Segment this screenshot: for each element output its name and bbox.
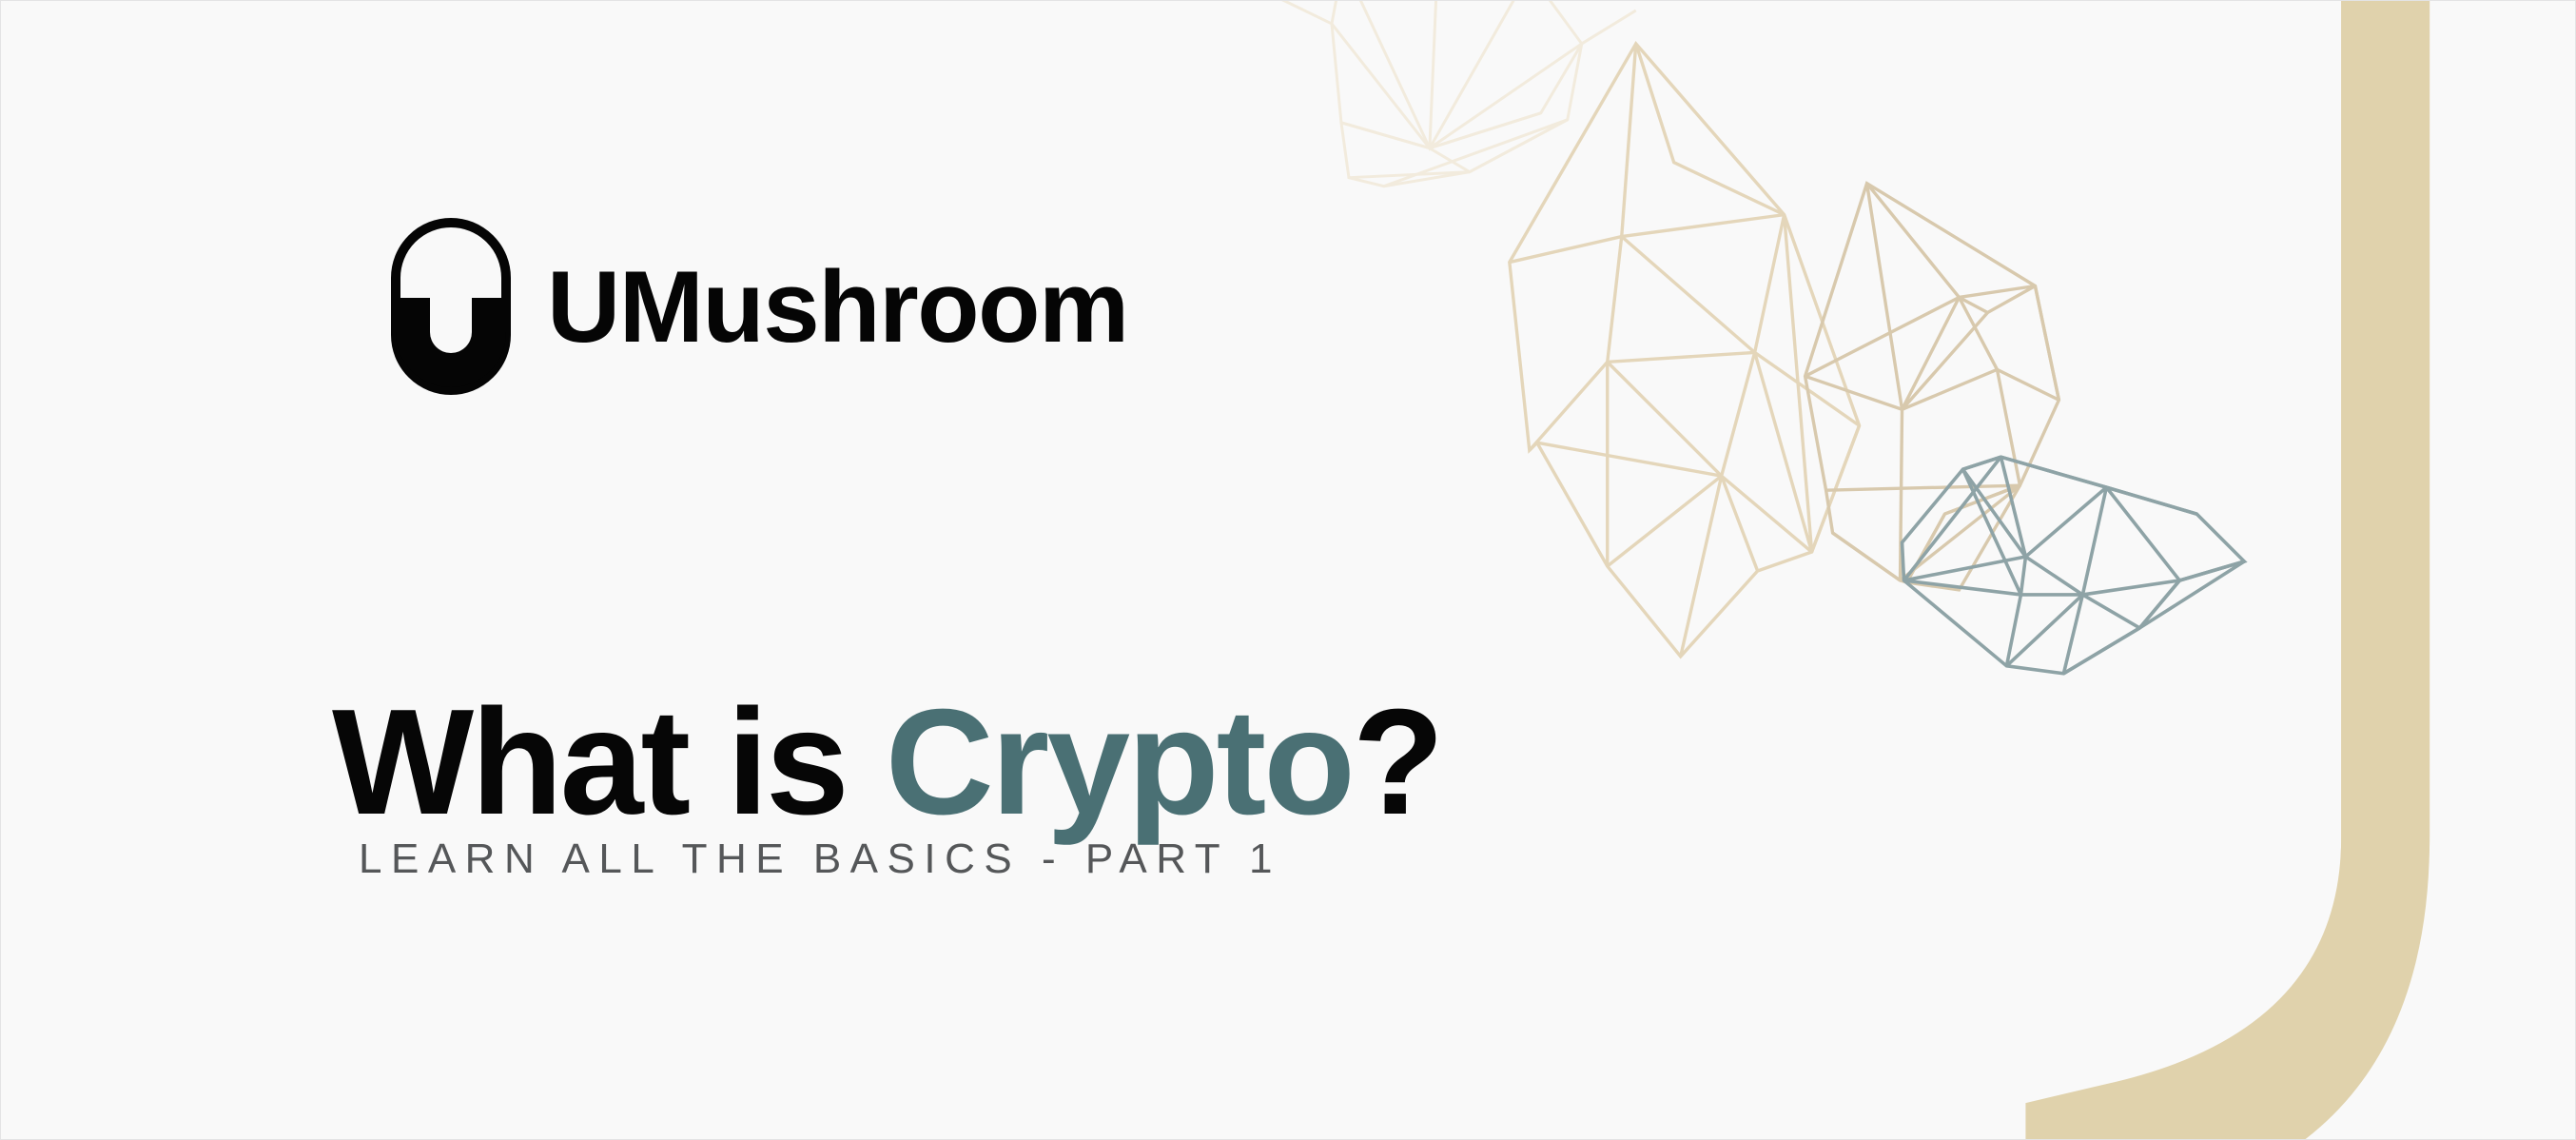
umushroom-logo-icon	[391, 218, 511, 395]
page-title: What is Crypto?	[332, 684, 1441, 842]
brand-wordmark: UMushroom	[547, 256, 1128, 358]
tan-polygon-cluster-left	[1510, 44, 1860, 657]
brand-lockup[interactable]: UMushroom	[391, 218, 1128, 395]
low-poly-network-artwork	[1, 1, 2575, 1139]
tan-ribbon-curve-body	[2025, 1, 2430, 1139]
headline-accent: Crypto	[886, 678, 1353, 846]
tan-polygon-cluster-right	[1805, 184, 2059, 590]
tan-ribbon-curve	[2073, 1, 2430, 1139]
headline-lead: What is	[332, 678, 886, 846]
page-subtitle: LEARN ALL THE BASICS - PART 1	[359, 838, 1281, 880]
blue-polygon-cluster	[1903, 457, 2245, 674]
headline-tail: ?	[1353, 678, 1442, 846]
faint-polygon-cluster	[1265, 1, 1636, 187]
promo-banner: UMushroom What is Crypto? LEARN ALL THE …	[0, 0, 2576, 1140]
